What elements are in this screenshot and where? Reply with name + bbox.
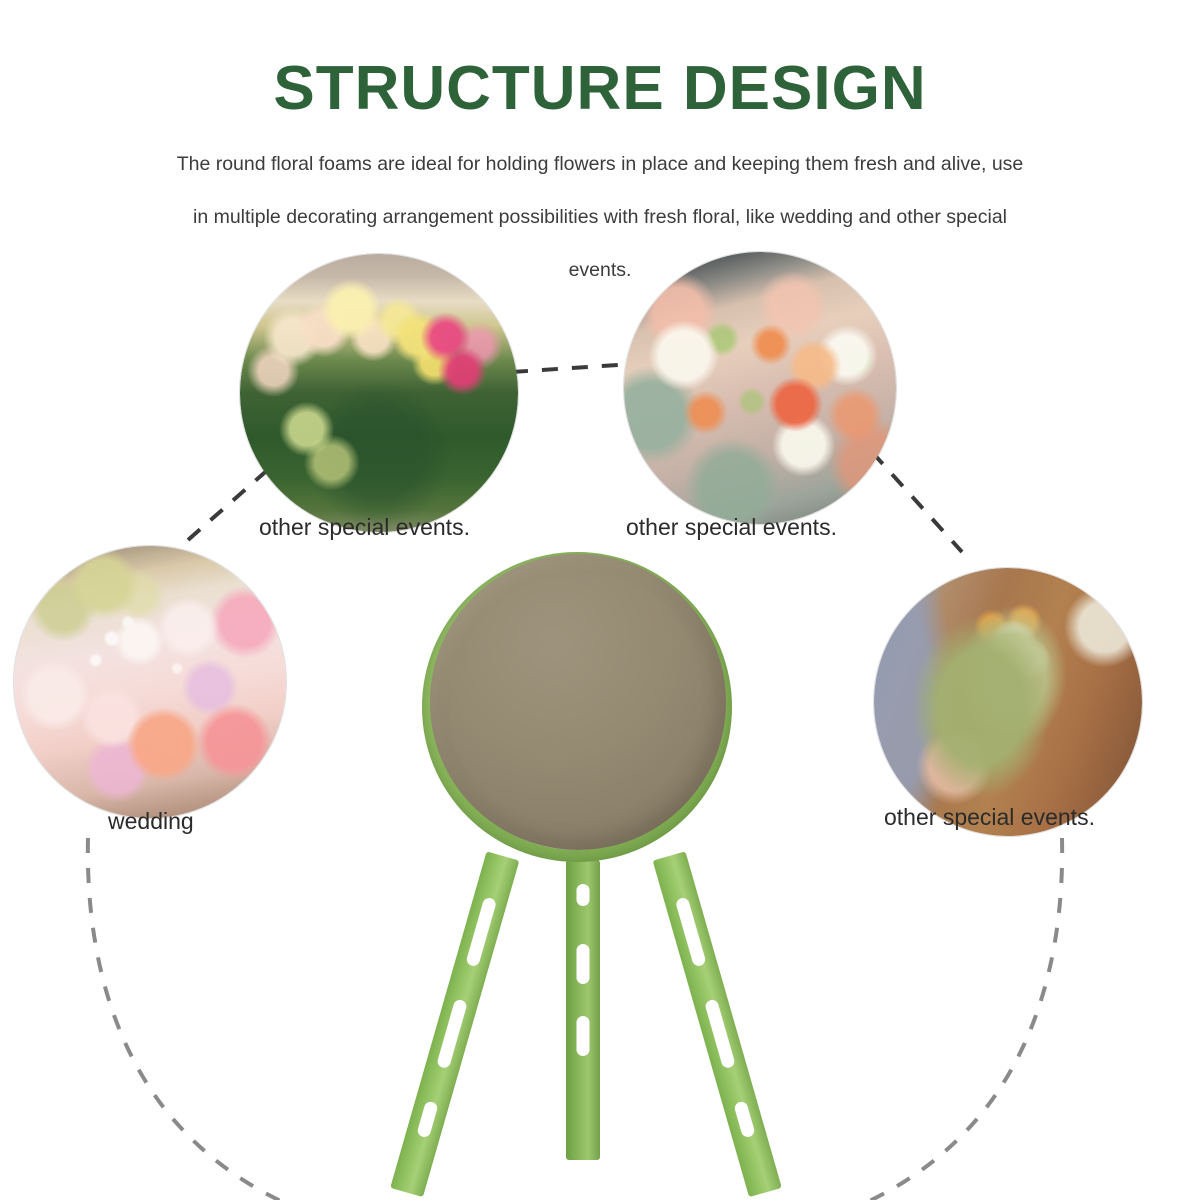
leg-slot — [416, 1100, 438, 1138]
description-line-3: events. — [95, 244, 1105, 297]
leg-slot — [733, 1100, 755, 1138]
photo-wildflower-bouquet — [874, 568, 1142, 836]
infographic-page: STRUCTURE DESIGN The round floral foams … — [0, 0, 1200, 1200]
product-leg-right — [653, 851, 782, 1197]
product-description: The round floral foams are ideal for hol… — [95, 138, 1105, 297]
photo-bubble-bottom-left[interactable] — [14, 546, 286, 818]
caption-top-right: other special events. — [626, 516, 837, 539]
leg-slot — [577, 944, 590, 984]
product-leg-left — [390, 851, 519, 1197]
caption-bottom-left: wedding — [108, 810, 194, 833]
connector-top-right-to-bottom-right — [872, 452, 962, 552]
leg-slot — [577, 884, 590, 906]
description-line-1: The round floral foams are ideal for hol… — [95, 138, 1105, 191]
leg-slot — [675, 897, 707, 968]
caption-top-left: other special events. — [259, 516, 470, 539]
caption-bottom-right: other special events. — [884, 806, 1095, 829]
description-line-2: in multiple decorating arrangement possi… — [95, 191, 1105, 244]
photo-bubble-top-right[interactable] — [624, 252, 896, 524]
product-foam-disc — [430, 554, 726, 850]
photo-wedding-roses — [14, 546, 286, 818]
photo-peach-ranunculus — [624, 252, 896, 524]
connector-right-arc — [778, 838, 1062, 1200]
page-title: STRUCTURE DESIGN — [0, 58, 1200, 120]
leg-slot — [577, 1016, 590, 1056]
photo-yellow-pink-roses — [240, 254, 518, 532]
connector-top-left-to-top-right — [512, 364, 632, 372]
leg-slot — [465, 897, 497, 968]
product-leg-center — [566, 860, 600, 1160]
leg-slot — [436, 998, 468, 1069]
connector-left-arc — [88, 838, 372, 1200]
photo-bubble-top-left[interactable] — [240, 254, 518, 532]
product-floral-foam-holder[interactable] — [400, 540, 800, 1200]
leg-slot — [704, 998, 736, 1069]
photo-bubble-bottom-right[interactable] — [874, 568, 1142, 836]
